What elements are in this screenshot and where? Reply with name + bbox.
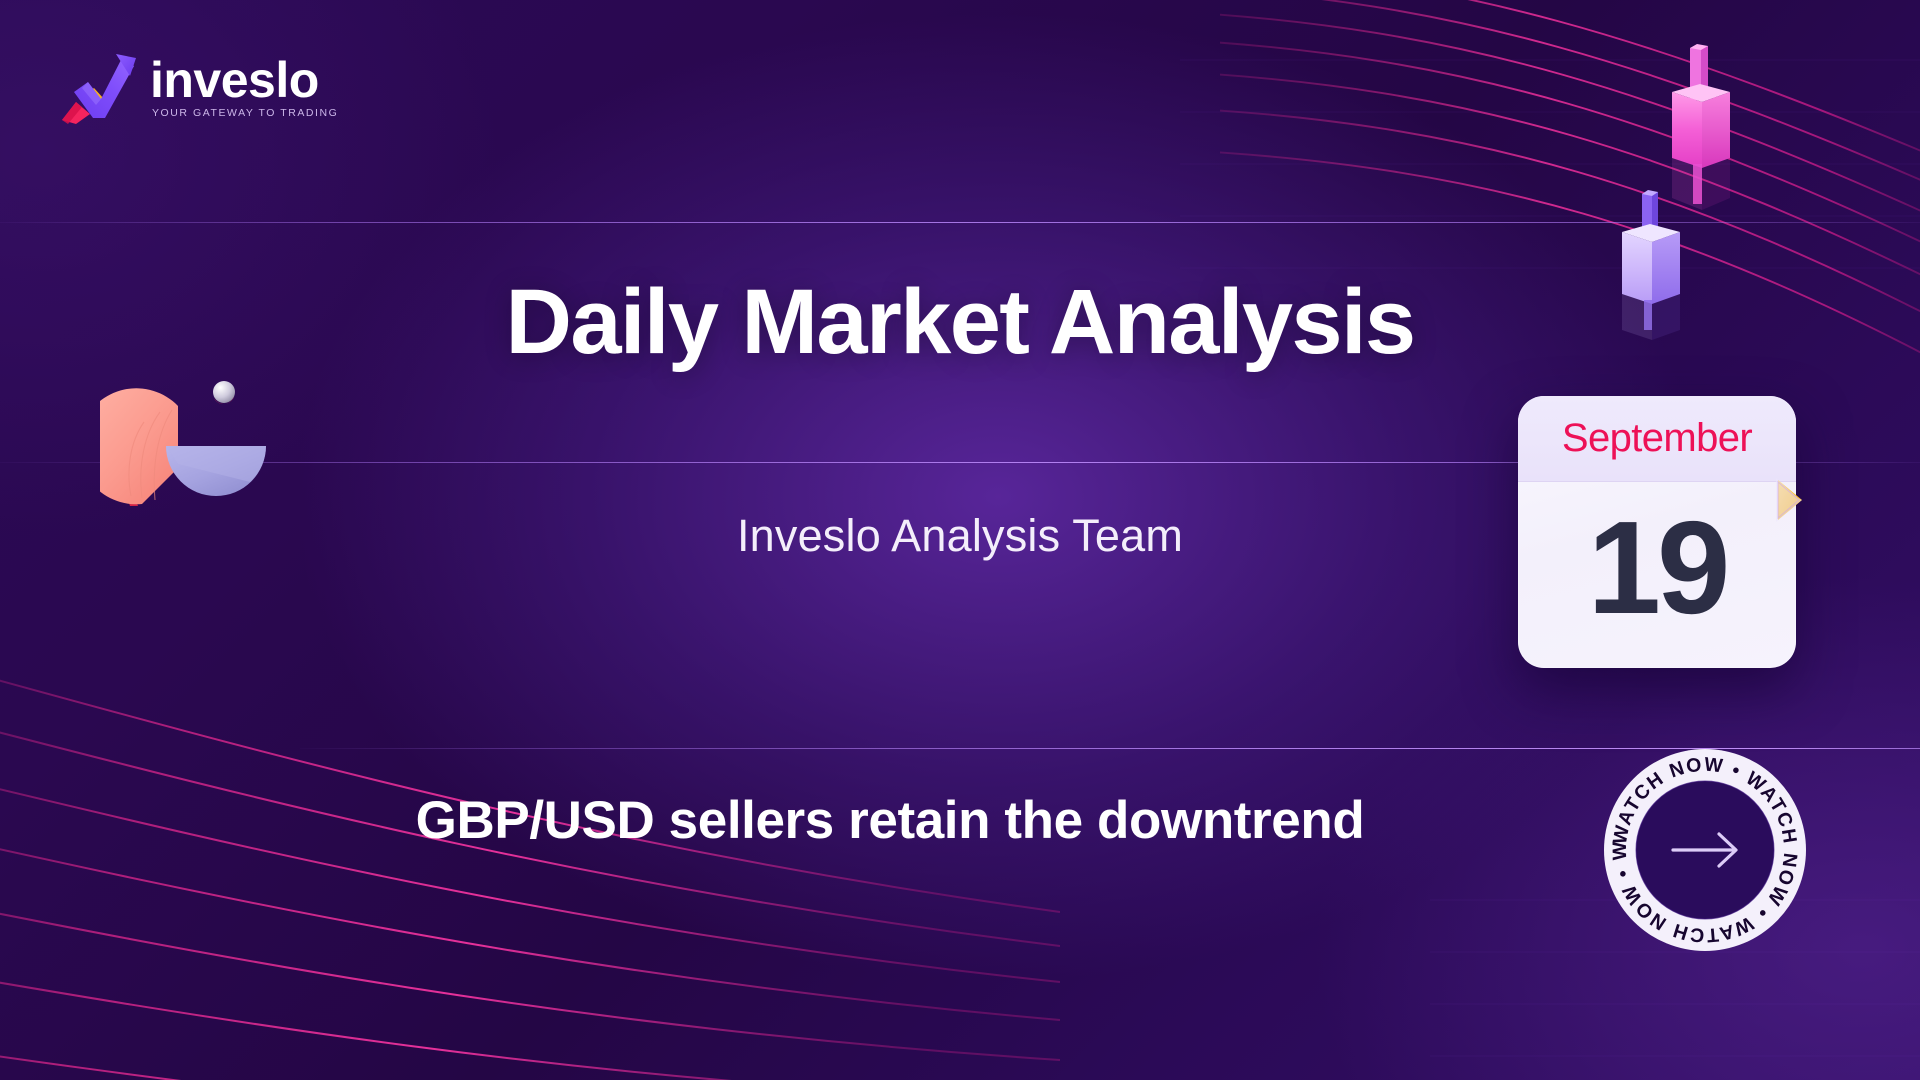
brand-tagline: YOUR GATEWAY TO TRADING xyxy=(152,107,338,119)
calendar-header: September xyxy=(1518,396,1796,482)
headline: GBP/USD sellers retain the downtrend xyxy=(360,790,1420,853)
upward-arrow-checkmark-icon xyxy=(60,52,138,124)
3d-pie-chart-icon xyxy=(100,372,310,532)
page-title: Daily Market Analysis xyxy=(0,276,1920,368)
brand-wordmark: inveslo xyxy=(150,57,319,105)
byline: Inveslo Analysis Team xyxy=(0,510,1920,562)
flowing-wave-lines-icon xyxy=(0,650,1060,1080)
brand-logo[interactable]: inveslo YOUR GATEWAY TO TRADING xyxy=(60,52,338,124)
calendar-month-label: September xyxy=(1562,416,1752,461)
slide-canvas: inveslo YOUR GATEWAY TO TRADING xyxy=(0,0,1920,1080)
small-sphere-icon xyxy=(213,381,235,403)
watch-now-badge[interactable]: WATCH NOW • WATCH NOW • WATCH NOW • WATC… xyxy=(1601,746,1809,954)
